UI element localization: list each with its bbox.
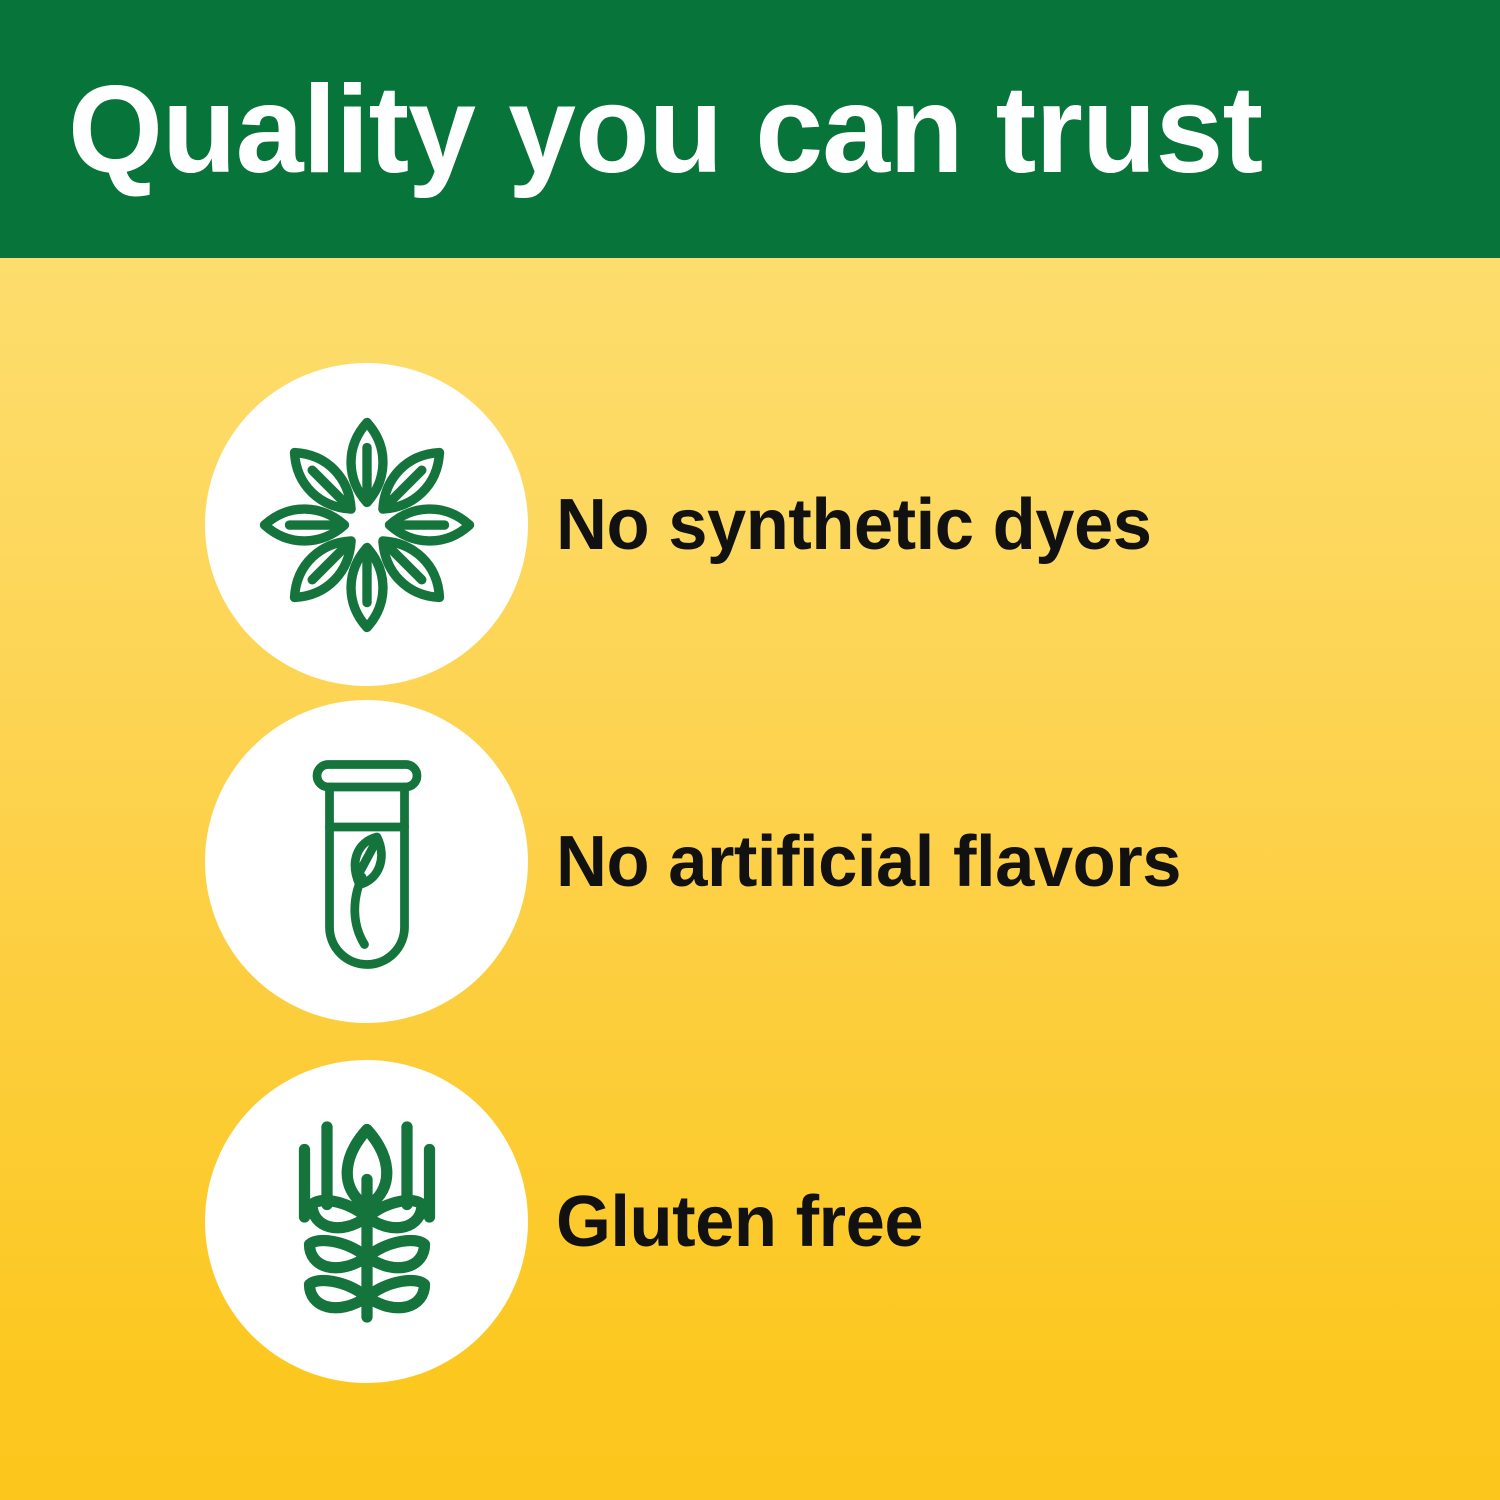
icon-badge-no-synthetic-dyes: [205, 363, 528, 686]
feature-label-gluten-free: Gluten free: [556, 1182, 923, 1262]
quality-claims-poster: Quality you can trust: [0, 0, 1500, 1500]
feature-row: No synthetic dyes: [0, 363, 1500, 686]
feature-label-no-artificial-flavors: No artificial flavors: [556, 822, 1181, 902]
header-band: Quality you can trust: [0, 0, 1500, 258]
feature-row: No artificial flavors: [0, 700, 1500, 1023]
flower-petals-icon: [242, 400, 492, 650]
feature-row: Gluten free: [0, 1060, 1500, 1383]
test-tube-leaf-icon: [242, 737, 492, 987]
page-title: Quality you can trust: [68, 60, 1427, 200]
feature-label-no-synthetic-dyes: No synthetic dyes: [556, 485, 1152, 565]
icon-badge-no-artificial-flavors: [205, 700, 528, 1023]
wheat-stalk-icon: [242, 1097, 492, 1347]
icon-badge-gluten-free: [205, 1060, 528, 1383]
